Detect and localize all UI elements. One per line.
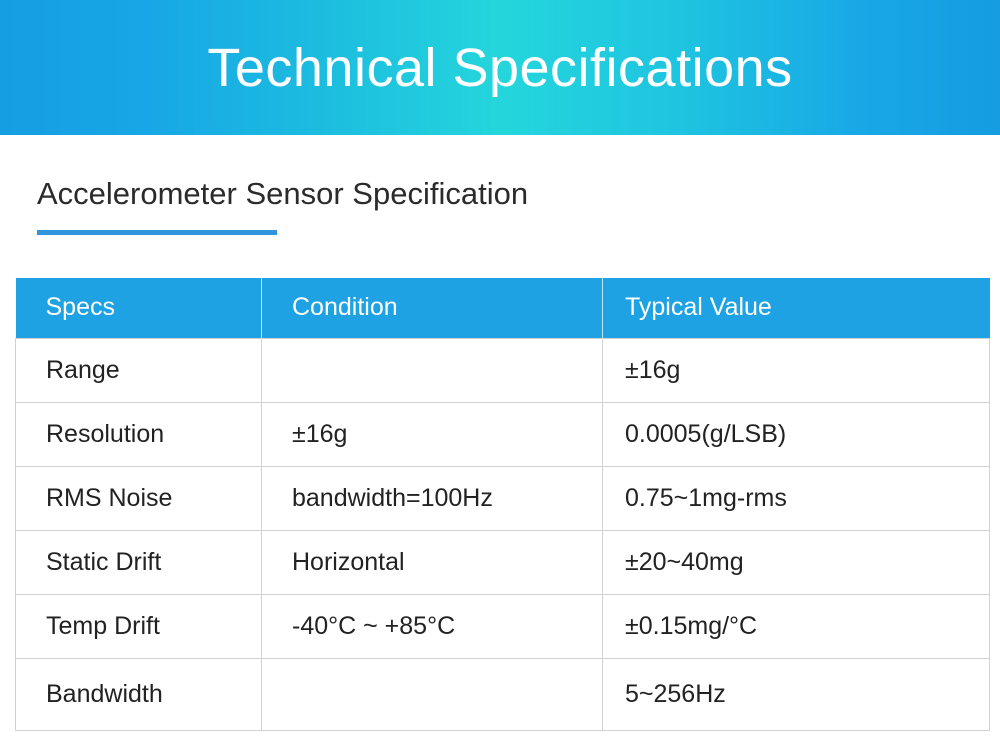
cell-typical-value: ±0.15mg/°C <box>603 594 990 658</box>
cell-typical-value: 0.75~1mg-rms <box>603 466 990 530</box>
table-body: Range±16gResolution±16g0.0005(g/LSB)RMS … <box>16 338 990 730</box>
cell-condition <box>262 658 603 730</box>
cell-condition: -40°C ~ +85°C <box>262 594 603 658</box>
section-title: Accelerometer Sensor Specification <box>37 175 957 212</box>
section-header: Accelerometer Sensor Specification <box>37 175 957 235</box>
cell-spec: RMS Noise <box>16 466 262 530</box>
cell-spec: Resolution <box>16 402 262 466</box>
table-row: Temp Drift-40°C ~ +85°C±0.15mg/°C <box>16 594 990 658</box>
banner-title: Technical Specifications <box>207 41 792 95</box>
cell-condition: bandwidth=100Hz <box>262 466 603 530</box>
cell-spec: Temp Drift <box>16 594 262 658</box>
specification-table: Specs Condition Typical Value Range±16gR… <box>15 278 990 731</box>
cell-typical-value: ±20~40mg <box>603 530 990 594</box>
column-header-typical-value: Typical Value <box>603 278 990 338</box>
table-row: RMS Noisebandwidth=100Hz0.75~1mg-rms <box>16 466 990 530</box>
cell-typical-value: ±16g <box>603 338 990 402</box>
cell-spec: Static Drift <box>16 530 262 594</box>
column-header-specs: Specs <box>16 278 262 338</box>
table-header: Specs Condition Typical Value <box>16 278 990 338</box>
cell-typical-value: 5~256Hz <box>603 658 990 730</box>
column-header-condition: Condition <box>262 278 603 338</box>
table-row: Static DriftHorizontal±20~40mg <box>16 530 990 594</box>
table-header-row: Specs Condition Typical Value <box>16 278 990 338</box>
cell-spec: Range <box>16 338 262 402</box>
table-row: Resolution±16g0.0005(g/LSB) <box>16 402 990 466</box>
specification-table-container: Specs Condition Typical Value Range±16gR… <box>15 278 989 731</box>
cell-condition: ±16g <box>262 402 603 466</box>
cell-spec: Bandwidth <box>16 658 262 730</box>
page-banner: Technical Specifications <box>0 0 1000 135</box>
cell-typical-value: 0.0005(g/LSB) <box>603 402 990 466</box>
table-row: Bandwidth5~256Hz <box>16 658 990 730</box>
cell-condition: Horizontal <box>262 530 603 594</box>
table-row: Range±16g <box>16 338 990 402</box>
cell-condition <box>262 338 603 402</box>
section-underline-rule <box>37 230 277 235</box>
